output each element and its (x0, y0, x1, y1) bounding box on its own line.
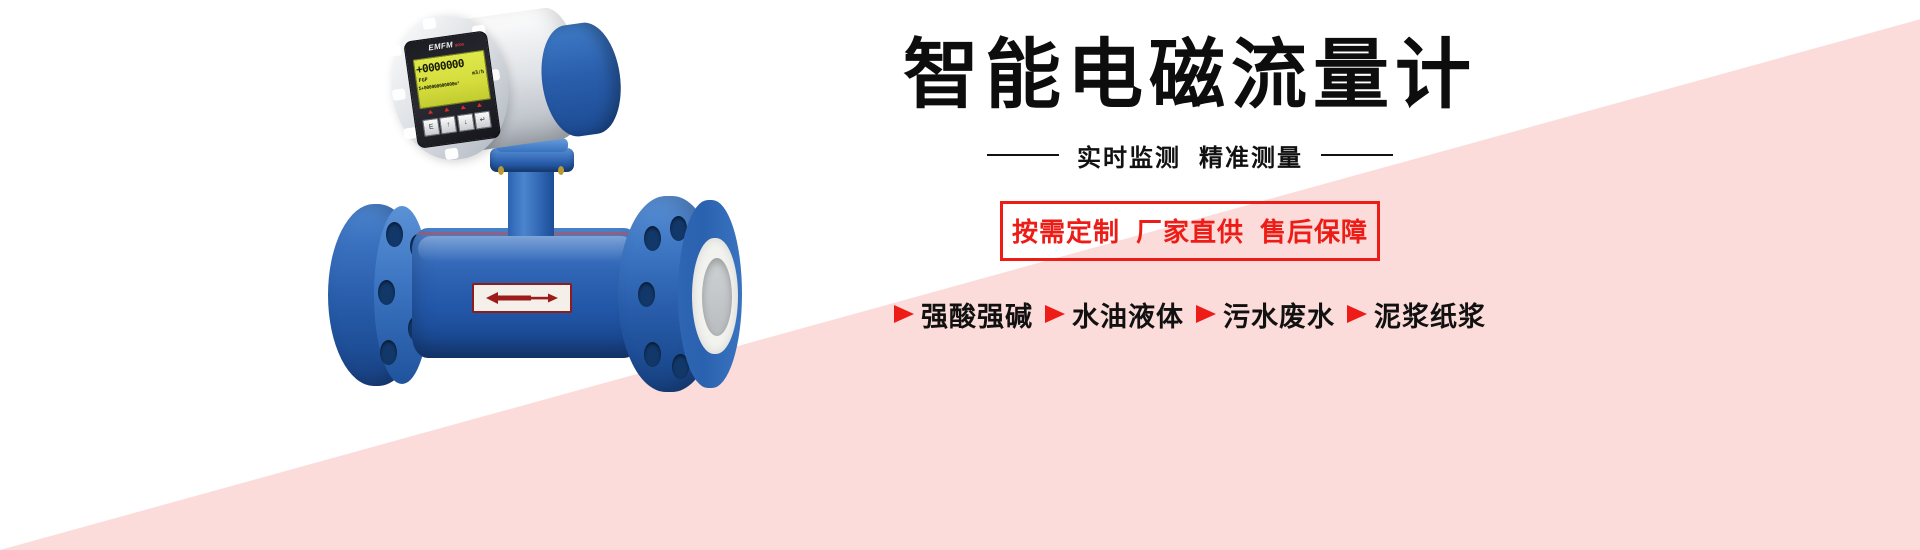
promo-item-1: 按需定制 (1012, 217, 1120, 247)
led-indicator-icon (444, 107, 450, 112)
led-indicator-icon (460, 105, 466, 110)
housing-notch (422, 17, 436, 30)
flange-bolt-hole (644, 226, 661, 251)
left-flange (328, 204, 424, 386)
subtitle-part-2: 精准测量 (1199, 145, 1303, 172)
brand-name: EMFM (428, 40, 454, 52)
feature-list: 强酸强碱 水油液体 污水废水 泥浆纸浆 (840, 295, 1540, 334)
flow-direction-arrow-icon (484, 291, 560, 305)
feature-label: 污水废水 (1223, 295, 1335, 334)
flange-bolt-hole (386, 222, 403, 247)
subtitle-rule-left (987, 154, 1059, 156)
keypad-key[interactable]: ↓ (457, 113, 475, 132)
arrow-icon (1347, 305, 1367, 323)
transmitter-converter: EMFM8000 +0000000 FGP m3/h Σ+00000000000… (383, 0, 602, 173)
subtitle-rule-right (1321, 154, 1393, 156)
flowmeter-illustration: EMFM8000 +0000000 FGP m3/h Σ+00000000000… (300, 0, 820, 550)
flow-direction-label (472, 283, 572, 313)
flange-bolt-hole (644, 342, 661, 367)
neck-bolt (558, 166, 564, 175)
pipe-bore (702, 258, 732, 336)
neck-bolt (498, 166, 504, 175)
housing-notch (392, 88, 406, 101)
led-indicator-icon (428, 110, 434, 115)
banner-copy: 智能电磁流量计 实时监测精准测量 按需定制厂家直供售后保障 强酸强碱 水油液体 … (840, 36, 1540, 334)
keypad-key[interactable]: ↵ (474, 111, 492, 130)
feature-label: 水油液体 (1072, 295, 1184, 334)
arrow-icon (894, 305, 914, 323)
keypad-key[interactable]: ↑ (439, 115, 457, 134)
page-title: 智能电磁流量计 (840, 36, 1540, 116)
converter-faceplate: EMFM8000 +0000000 FGP m3/h Σ+00000000000… (403, 30, 501, 149)
brand-model: 8000 (455, 42, 465, 48)
product-banner: EMFM8000 +0000000 FGP m3/h Σ+00000000000… (0, 0, 1920, 550)
feature-label: 强酸强碱 (921, 295, 1033, 334)
converter-keypad[interactable]: E ↑ ↓ ↵ (422, 111, 492, 137)
list-item: 强酸强碱 (894, 295, 1033, 334)
housing-notch (388, 44, 402, 57)
keypad-key[interactable]: E (422, 118, 440, 137)
promo-item-3: 售后保障 (1260, 217, 1368, 247)
promo-item-2: 厂家直供 (1136, 217, 1244, 247)
lcd-display: +0000000 FGP m3/h Σ+000000000000m³ (413, 50, 491, 110)
feature-label: 泥浆纸浆 (1374, 295, 1486, 334)
list-item: 泥浆纸浆 (1347, 295, 1486, 334)
arrow-icon (1045, 305, 1065, 323)
subtitle: 实时监测精准测量 (1077, 138, 1303, 173)
housing-notch (444, 147, 458, 160)
list-item: 污水废水 (1196, 295, 1335, 334)
flange-bolt-hole (378, 280, 395, 305)
list-item: 水油液体 (1045, 295, 1184, 334)
promo-badge: 按需定制厂家直供售后保障 (1000, 201, 1380, 261)
converter-neck (508, 168, 554, 236)
flange-bolt-hole (638, 282, 655, 307)
subtitle-part-1: 实时监测 (1077, 145, 1181, 172)
promo-text: 按需定制厂家直供售后保障 (1003, 212, 1377, 249)
lcd-status-code: FGP (418, 77, 428, 84)
flange-bolt-hole (380, 340, 397, 365)
led-indicator-icon (477, 103, 483, 108)
subtitle-row: 实时监测精准测量 (840, 138, 1540, 173)
arrow-icon (1196, 305, 1216, 323)
